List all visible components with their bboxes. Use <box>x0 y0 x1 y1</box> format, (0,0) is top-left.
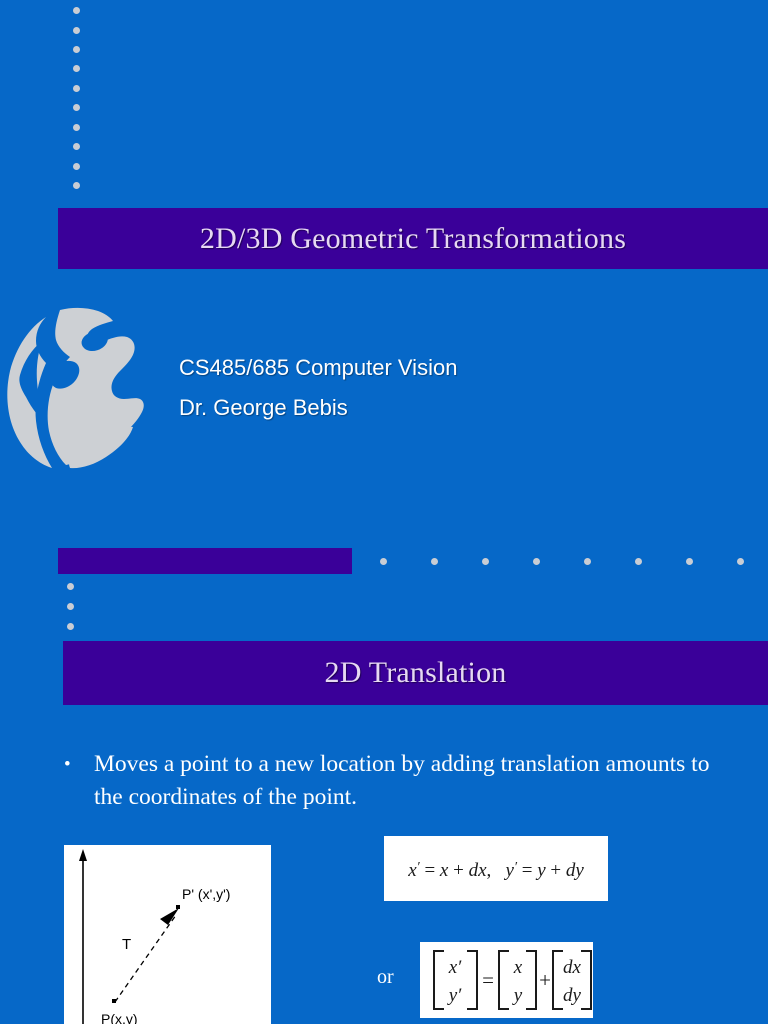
matrix-delta-dy: dy <box>563 985 582 1006</box>
decor-dot <box>73 85 80 92</box>
decorative-banner-secondary <box>58 548 352 574</box>
decor-dot <box>686 558 693 565</box>
bullet-marker-icon: • <box>64 748 94 814</box>
decor-dot <box>380 558 387 565</box>
decor-dot <box>482 558 489 565</box>
translation-diagram: P(x,y) P' (x',y') T <box>64 845 271 1024</box>
figure-label-vector: T <box>122 936 131 953</box>
decor-dot <box>533 558 540 565</box>
decor-dot <box>73 104 80 111</box>
equation-matrix-box: x′ y′ x y dx dy = + <box>420 942 593 1018</box>
decor-dot <box>431 558 438 565</box>
title-slide: 2D/3D Geometric Transformations CS485/68… <box>0 0 768 640</box>
decor-dot <box>67 623 74 630</box>
matrix-out-x: x′ <box>448 957 462 978</box>
matrix-equals: = <box>482 968 494 992</box>
decor-dot <box>73 163 80 170</box>
course-name: CS485/685 Computer Vision <box>179 348 457 388</box>
decor-dot <box>67 583 74 590</box>
matrix-in-x: x <box>513 957 523 978</box>
matrix-out-y: y′ <box>447 985 462 1006</box>
author-name: Dr. George Bebis <box>179 388 457 428</box>
figure-label-source: P(x,y) <box>101 1011 138 1024</box>
slide-title-banner: 2D/3D Geometric Transformations <box>58 208 768 269</box>
globe-icon <box>0 305 162 471</box>
decor-dot <box>73 7 80 14</box>
section-title: 2D Translation <box>63 656 768 690</box>
page-title: 2D/3D Geometric Transformations <box>58 222 768 256</box>
decor-dot <box>635 558 642 565</box>
translation-slide: 2D Translation • Moves a point to a new … <box>0 640 768 1024</box>
matrix-in-y: y <box>512 985 523 1006</box>
decor-dot <box>73 46 80 53</box>
decor-dot <box>737 558 744 565</box>
decor-dot <box>584 558 591 565</box>
bullet-text: Moves a point to a new location by addin… <box>94 748 712 814</box>
matrix-delta-dx: dx <box>563 957 582 978</box>
equation-scalar-text: x′ = x + dx, y′ = y + dy <box>407 860 584 881</box>
matrix-plus: + <box>539 968 551 992</box>
figure-label-target: P' (x',y') <box>182 886 230 902</box>
equation-scalar-box: x′ = x + dx, y′ = y + dy <box>384 836 608 901</box>
decor-dot <box>73 124 80 131</box>
translation-title-banner: 2D Translation <box>63 641 768 705</box>
decor-dot <box>73 143 80 150</box>
course-info: CS485/685 Computer Vision Dr. George Beb… <box>179 348 457 428</box>
decor-dot <box>73 27 80 34</box>
bullet-list-item: • Moves a point to a new location by add… <box>64 748 712 814</box>
decor-dot <box>73 182 80 189</box>
equation-connector-label: or <box>377 966 394 989</box>
decor-dot <box>73 65 80 72</box>
decor-dot <box>67 603 74 610</box>
